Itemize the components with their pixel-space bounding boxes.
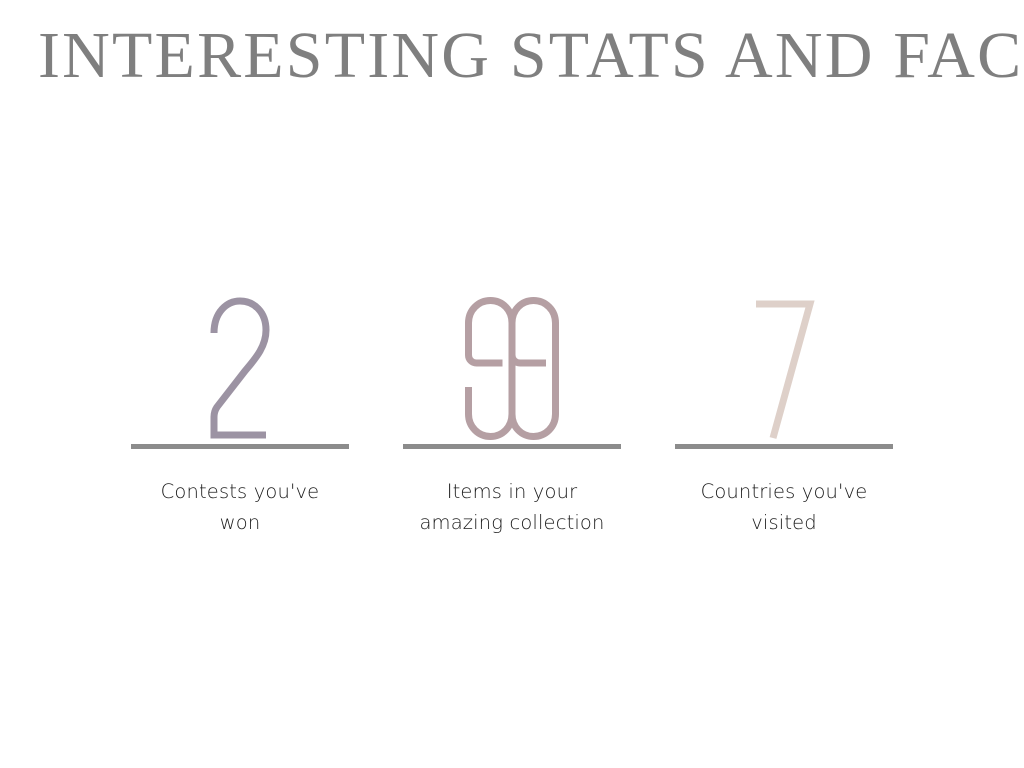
stats-row: Contests you've won	[0, 272, 1024, 572]
stat-divider-2	[403, 444, 621, 449]
stat-divider-1	[131, 444, 349, 449]
stat-label-3-line2: visited	[751, 511, 817, 534]
stat-block-items-collection: Items in your amazing collection	[376, 272, 648, 538]
stat-label-3-line1: Countries you've	[701, 480, 868, 503]
numeral-ninetynine-glyph	[464, 297, 560, 442]
slide-canvas: INTERESTING STATS AND FACTS Contests you…	[0, 0, 1024, 768]
stat-label-1-line2: won	[220, 511, 261, 534]
stat-value-1	[131, 272, 349, 444]
page-title: INTERESTING STATS AND FACTS	[38, 16, 988, 96]
stat-block-countries-visited: Countries you've visited	[648, 272, 920, 538]
stat-label-2: Items in your amazing collection	[397, 476, 627, 538]
stat-label-1: Contests you've won	[125, 476, 355, 538]
stat-label-2-line1: Items in your	[447, 480, 578, 503]
stat-label-3: Countries you've visited	[669, 476, 899, 538]
stat-label-1-line1: Contests you've	[161, 480, 320, 503]
stat-value-3	[675, 272, 893, 444]
numeral-two-glyph	[209, 297, 271, 442]
stat-label-2-line2: amazing collection	[419, 511, 604, 534]
numeral-seven-glyph	[753, 297, 815, 442]
stat-value-2	[403, 272, 621, 444]
stat-block-contests-won: Contests you've won	[104, 272, 376, 538]
stat-divider-3	[675, 444, 893, 449]
